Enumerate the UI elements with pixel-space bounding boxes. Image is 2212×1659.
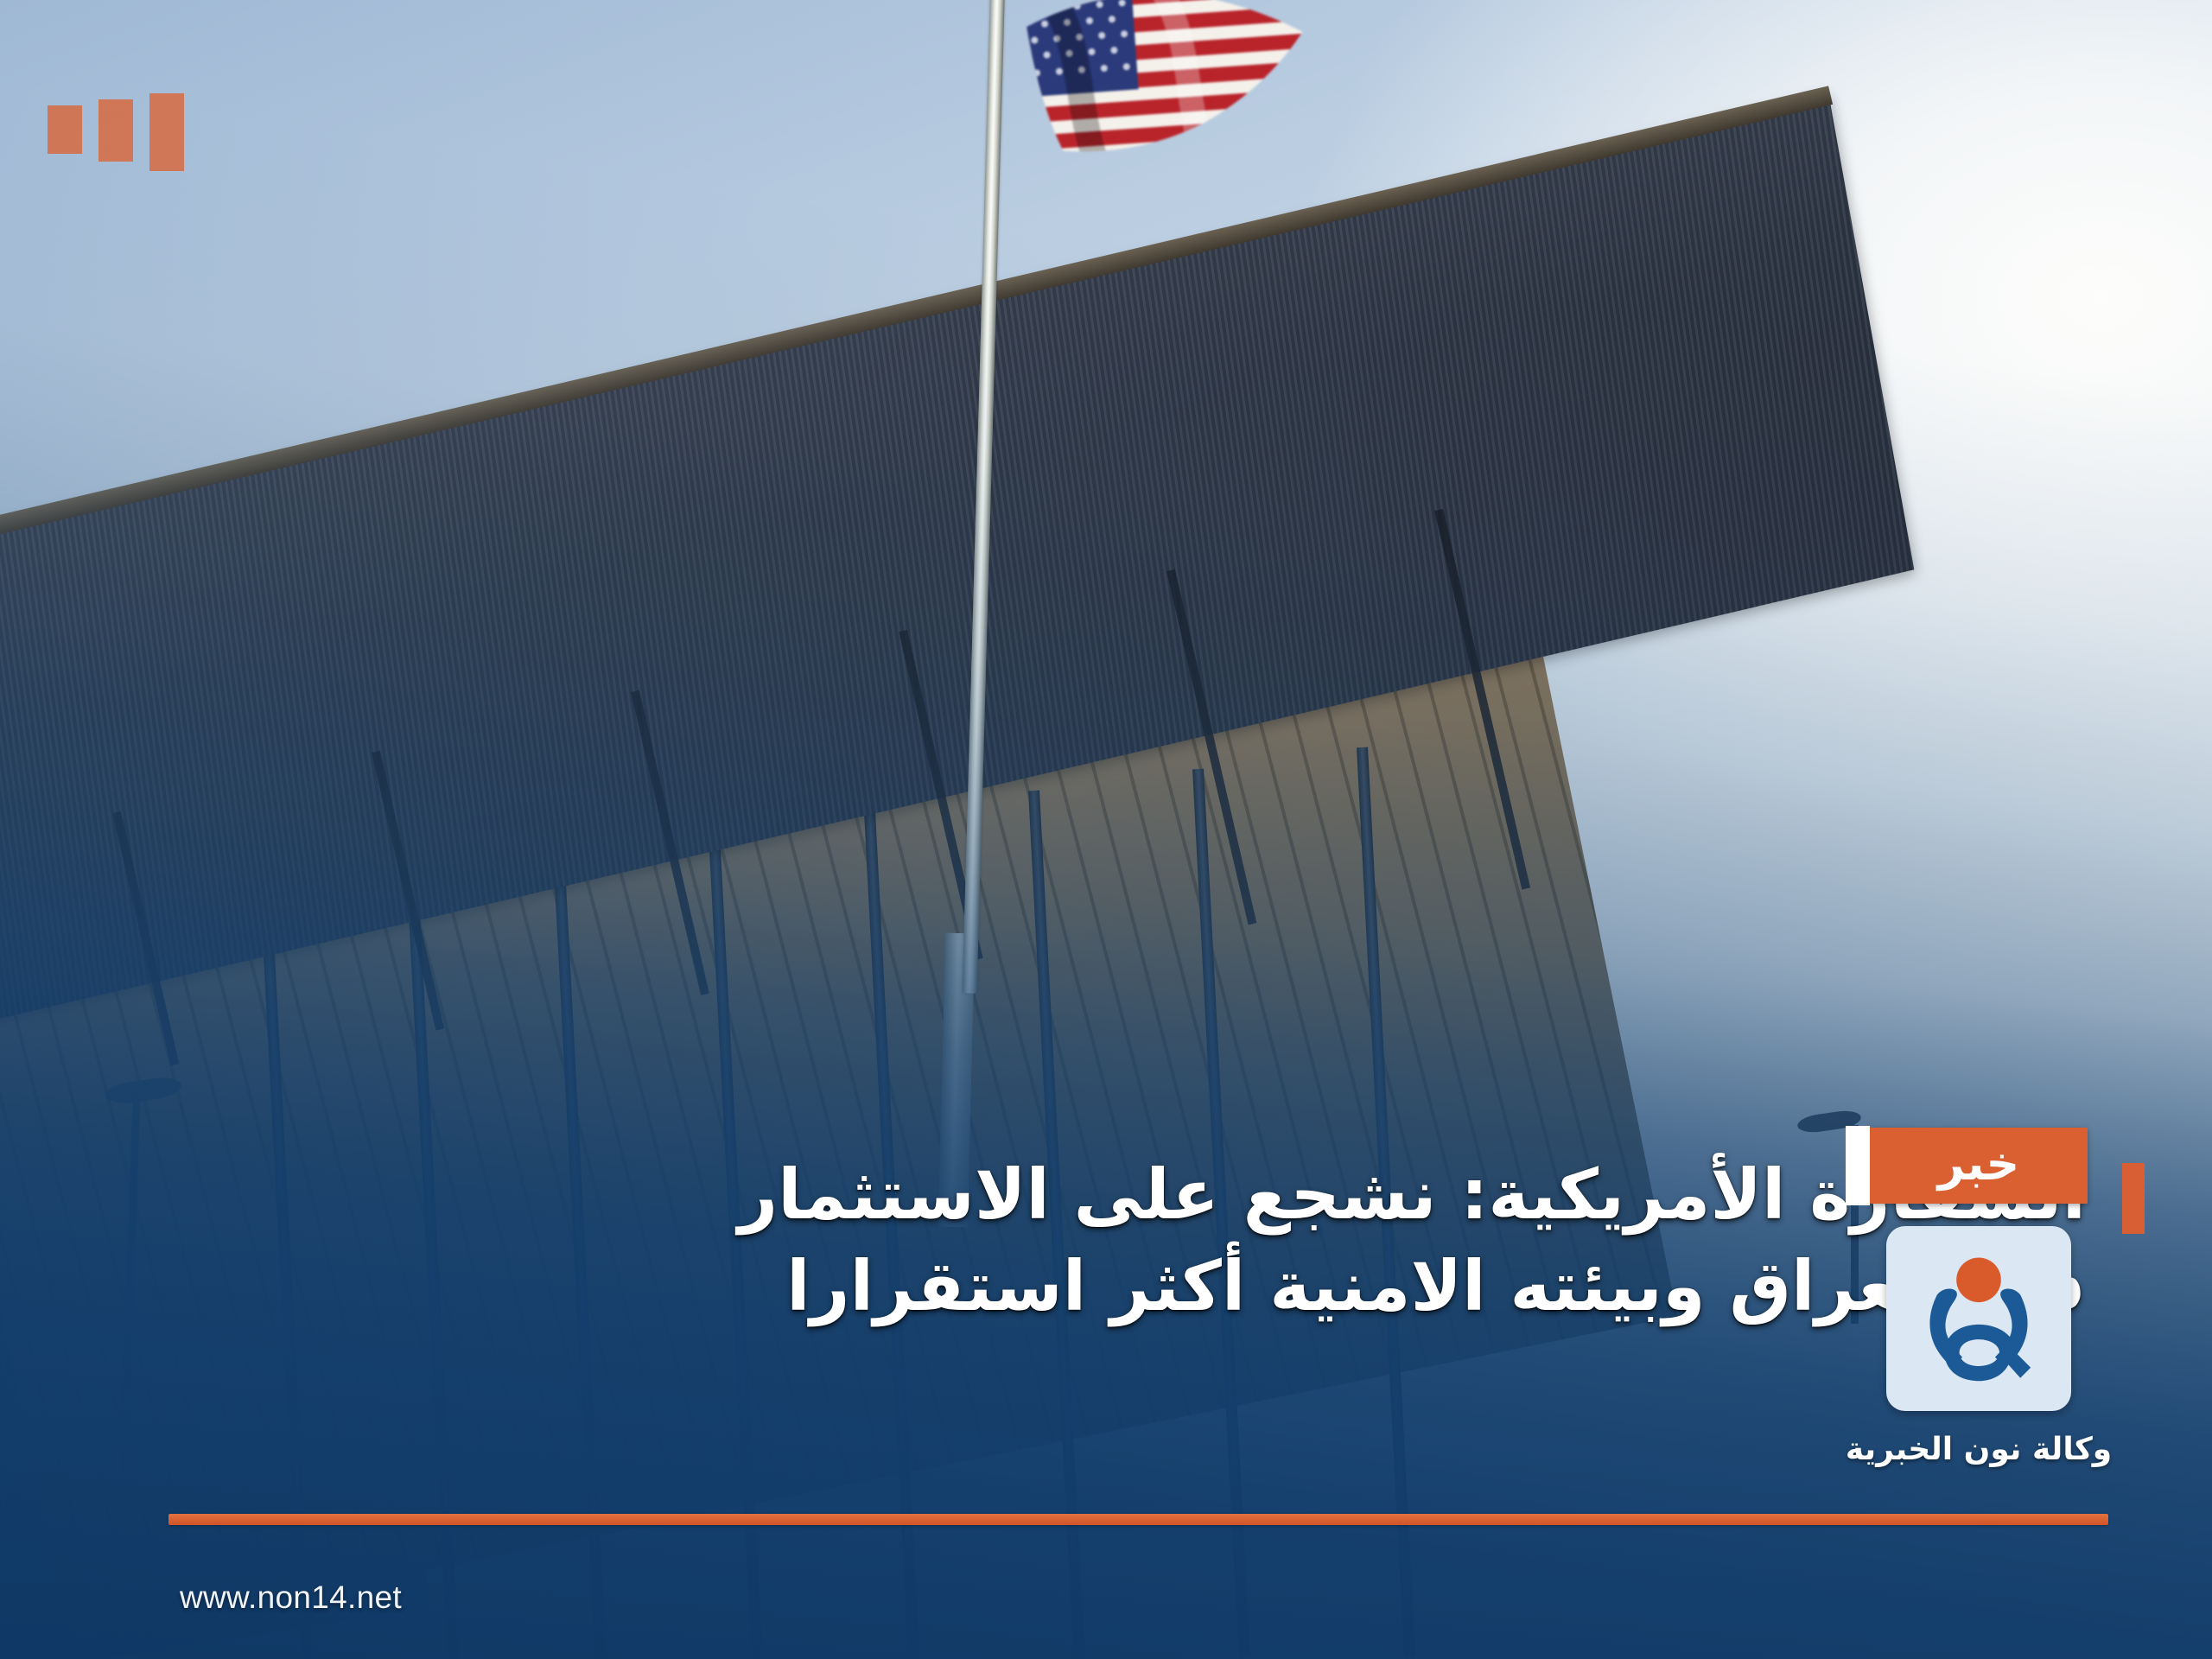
agency-logo[interactable] <box>1886 1226 2071 1411</box>
three-orange-bars-icon <box>48 93 184 171</box>
corner-bar-1 <box>149 93 184 171</box>
news-card: السفارة الأمريكية: نشجع على الاستثمار في… <box>0 0 2212 1659</box>
agency-name: وكالة نون الخبرية <box>1846 1432 2112 1467</box>
status-badge: خبر <box>1870 1128 2088 1204</box>
corner-bar-2 <box>99 99 133 162</box>
orange-divider-rule-icon <box>168 1514 2108 1525</box>
corner-bar-3 <box>48 105 82 154</box>
brand-block: خبر وكالة نون الخبرية <box>1823 1128 2134 1467</box>
headline-block: السفارة الأمريكية: نشجع على الاستثمار في… <box>130 1149 2108 1332</box>
headline-line-2: في العراق وبيئته الامنية أكثر استقرارا <box>130 1241 2108 1332</box>
headline-line-1: السفارة الأمريكية: نشجع على الاستثمار <box>130 1149 2108 1241</box>
noon-agency-logo-icon <box>1904 1244 2053 1393</box>
badge-label: خبر <box>1938 1141 2020 1187</box>
website-url[interactable]: www.non14.net <box>180 1580 402 1616</box>
